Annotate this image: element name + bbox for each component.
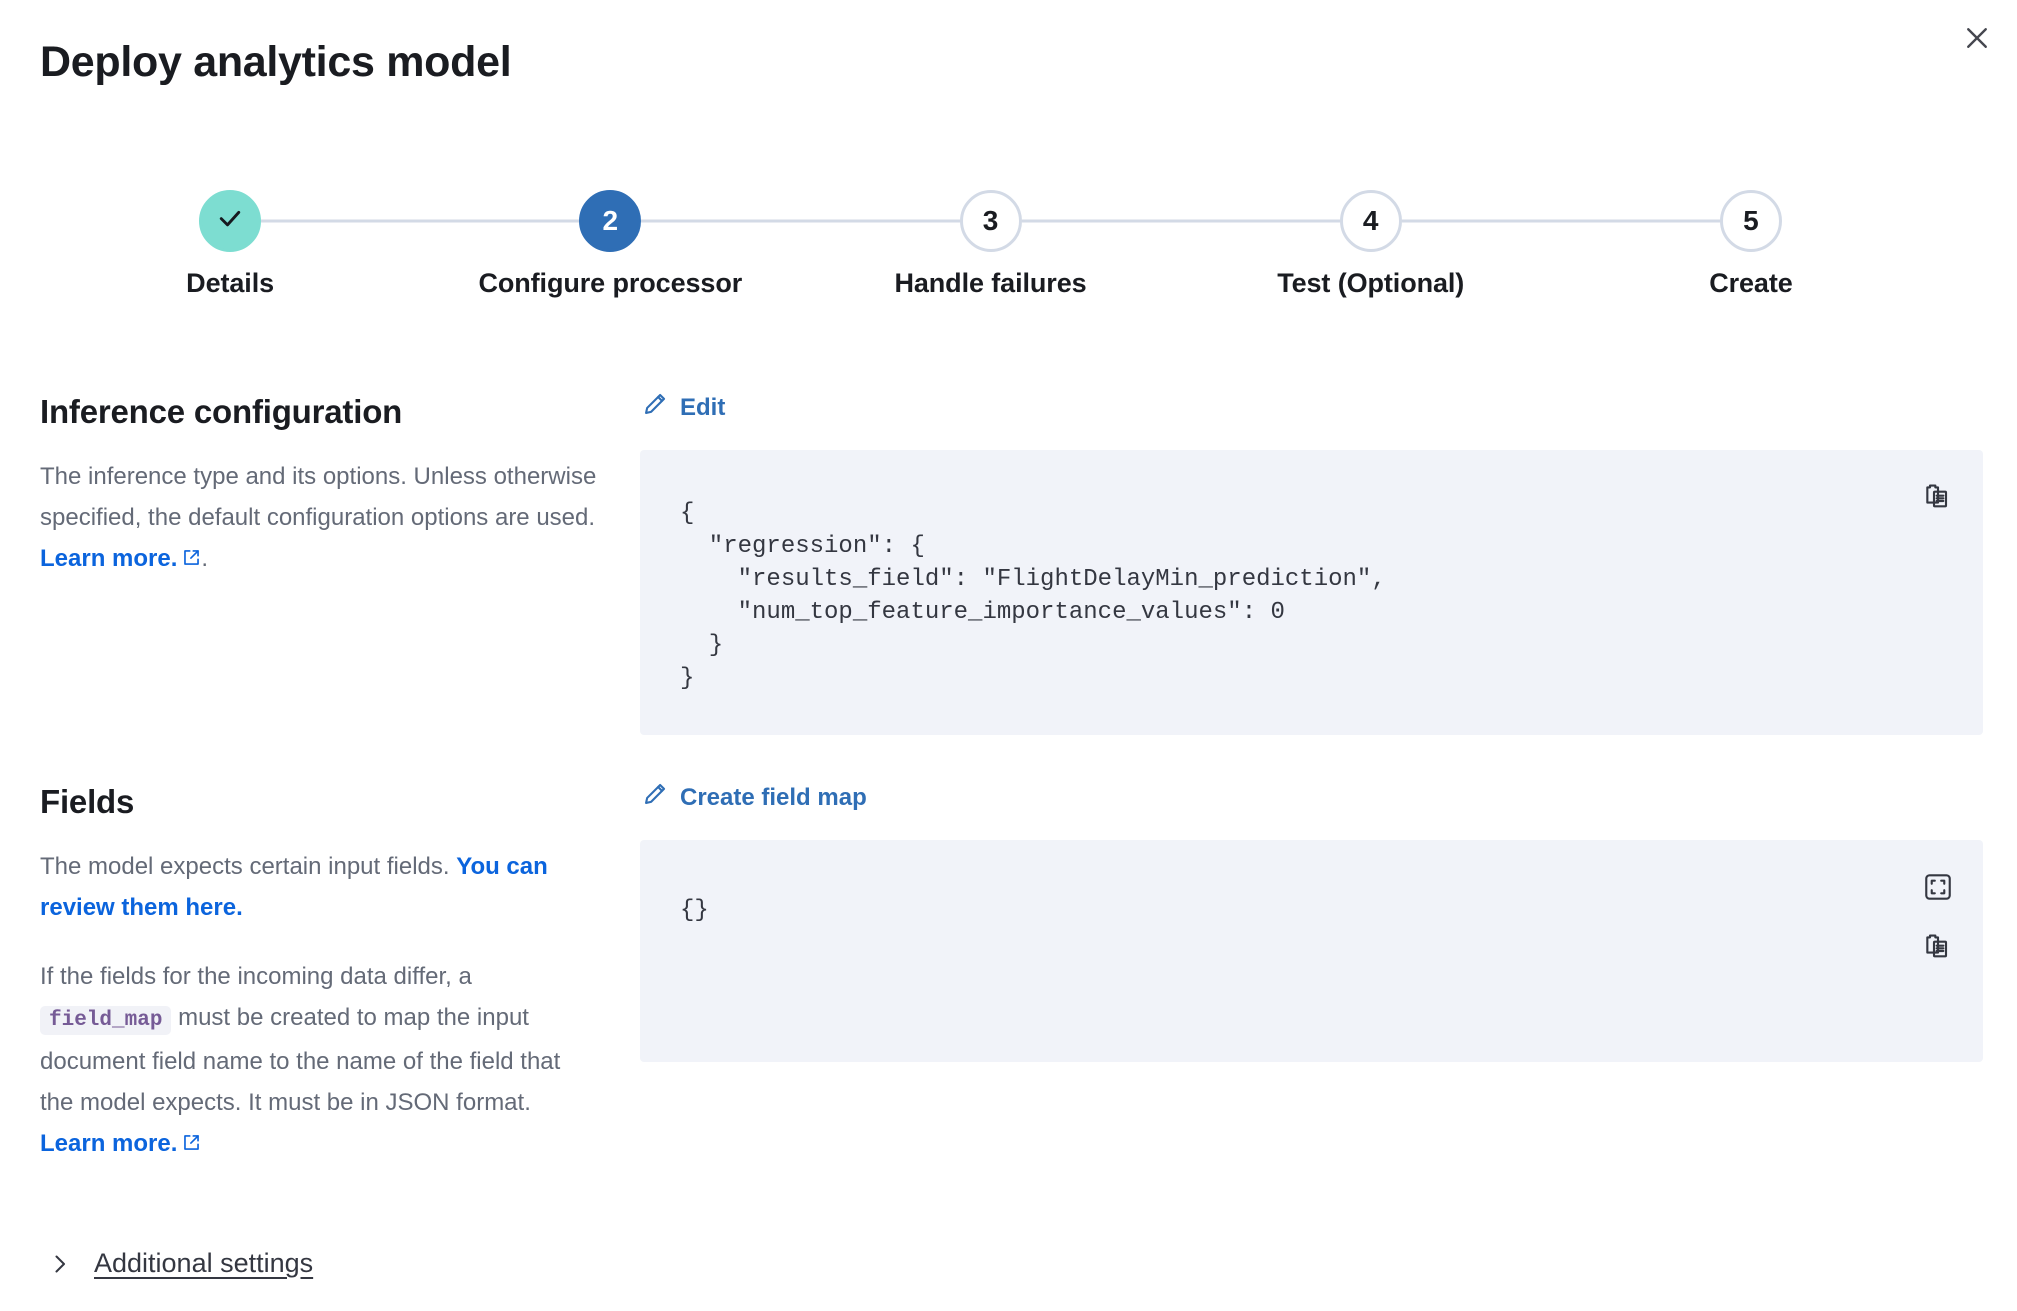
close-icon <box>1962 23 1992 53</box>
edit-inference-config-label: Edit <box>680 394 725 422</box>
inference-code-tools <box>1921 480 1955 514</box>
step-test-optional[interactable]: 4 Test (Optional) <box>1181 190 1561 299</box>
expand-icon <box>1922 871 1954 903</box>
step-circle-row: 2 <box>420 190 800 252</box>
fields-section: Fields The model expects certain input f… <box>40 782 1983 1165</box>
fields-learn-more-link[interactable]: Learn more. <box>40 1130 177 1157</box>
step-connector-left <box>800 220 959 223</box>
create-field-map-button[interactable]: Create field map <box>642 782 867 814</box>
step-connector-left <box>1561 220 1720 223</box>
external-link-icon[interactable] <box>182 1124 201 1165</box>
step-connector-left <box>420 220 579 223</box>
field-map-code: {} <box>680 894 1943 927</box>
step-label-3[interactable]: Handle failures <box>894 268 1086 299</box>
step-indicator-4[interactable]: 4 <box>1340 190 1402 252</box>
page-title: Deploy analytics model <box>40 38 511 87</box>
inference-learn-more-link[interactable]: Learn more. <box>40 545 177 572</box>
step-label-5[interactable]: Create <box>1709 268 1792 299</box>
step-indicator-1[interactable] <box>199 190 261 252</box>
create-field-map-label: Create field map <box>680 784 867 812</box>
expand-button[interactable] <box>1921 870 1955 904</box>
fields-description-2: If the fields for the incoming data diff… <box>40 956 600 1165</box>
copy-button[interactable] <box>1921 480 1955 514</box>
step-details[interactable]: Details <box>40 190 420 299</box>
step-handle-failures[interactable]: 3 Handle failures <box>800 190 1180 299</box>
additional-settings-accordion[interactable]: Additional settings <box>48 1248 313 1279</box>
chevron-right-icon <box>48 1252 72 1276</box>
step-create[interactable]: 5 Create <box>1561 190 1941 299</box>
inference-configuration-section: Inference configuration The inference ty… <box>40 392 1983 735</box>
step-connector-left <box>1181 220 1340 223</box>
step-indicator-3[interactable]: 3 <box>960 190 1022 252</box>
inference-description-text: The inference type and its options. Unle… <box>40 463 596 531</box>
copy-button[interactable] <box>1921 930 1955 964</box>
pencil-icon <box>642 782 667 814</box>
step-configure-processor[interactable]: 2 Configure processor <box>420 190 800 299</box>
inference-title: Inference configuration <box>40 392 600 432</box>
step-connector-right <box>1402 220 1561 223</box>
field-map-code-block[interactable]: {} <box>640 840 1983 1062</box>
step-connector-right <box>641 220 800 223</box>
step-indicator-2[interactable]: 2 <box>579 190 641 252</box>
step-circle-row: 4 <box>1181 190 1561 252</box>
check-icon <box>215 203 245 240</box>
fields-title: Fields <box>40 782 600 822</box>
step-connector-right <box>1022 220 1181 223</box>
additional-settings-label: Additional settings <box>94 1248 313 1279</box>
step-label-4[interactable]: Test (Optional) <box>1277 268 1464 299</box>
fields-code-column: Create field map {} <box>640 782 1983 1062</box>
step-connector-right <box>261 220 420 223</box>
inference-config-code: { "regression": { "results_field": "Flig… <box>680 497 1943 695</box>
fields-description-2-prefix: If the fields for the incoming data diff… <box>40 963 472 990</box>
step-indicator-5[interactable]: 5 <box>1720 190 1782 252</box>
step-circle-row: 5 <box>1561 190 1941 252</box>
inference-description-suffix: . <box>201 545 208 572</box>
pencil-icon <box>642 392 667 424</box>
step-circle-row <box>40 190 420 252</box>
inference-description: The inference type and its options. Unle… <box>40 456 600 580</box>
field-map-code-tools <box>1921 870 1955 964</box>
fields-description-1: The model expects certain input fields. … <box>40 846 600 928</box>
step-label-1[interactable]: Details <box>186 268 274 299</box>
wizard-stepper: Details 2 Configure processor 3 Handle f… <box>40 190 1941 299</box>
edit-inference-config-button[interactable]: Edit <box>642 392 725 424</box>
close-button[interactable] <box>1953 14 2001 62</box>
external-link-icon[interactable] <box>182 539 201 580</box>
inference-description-column: Inference configuration The inference ty… <box>40 392 640 580</box>
step-label-2[interactable]: Configure processor <box>478 268 742 299</box>
inference-code-column: Edit { "regression": { "results_field": … <box>640 392 1983 735</box>
fields-description-1-text: The model expects certain input fields. <box>40 853 456 880</box>
field-map-code-badge: field_map <box>40 1006 171 1035</box>
copy-icon <box>1922 481 1954 513</box>
fields-description-column: Fields The model expects certain input f… <box>40 782 640 1165</box>
copy-icon <box>1922 931 1954 963</box>
step-circle-row: 3 <box>800 190 1180 252</box>
inference-config-code-block[interactable]: { "regression": { "results_field": "Flig… <box>640 450 1983 735</box>
